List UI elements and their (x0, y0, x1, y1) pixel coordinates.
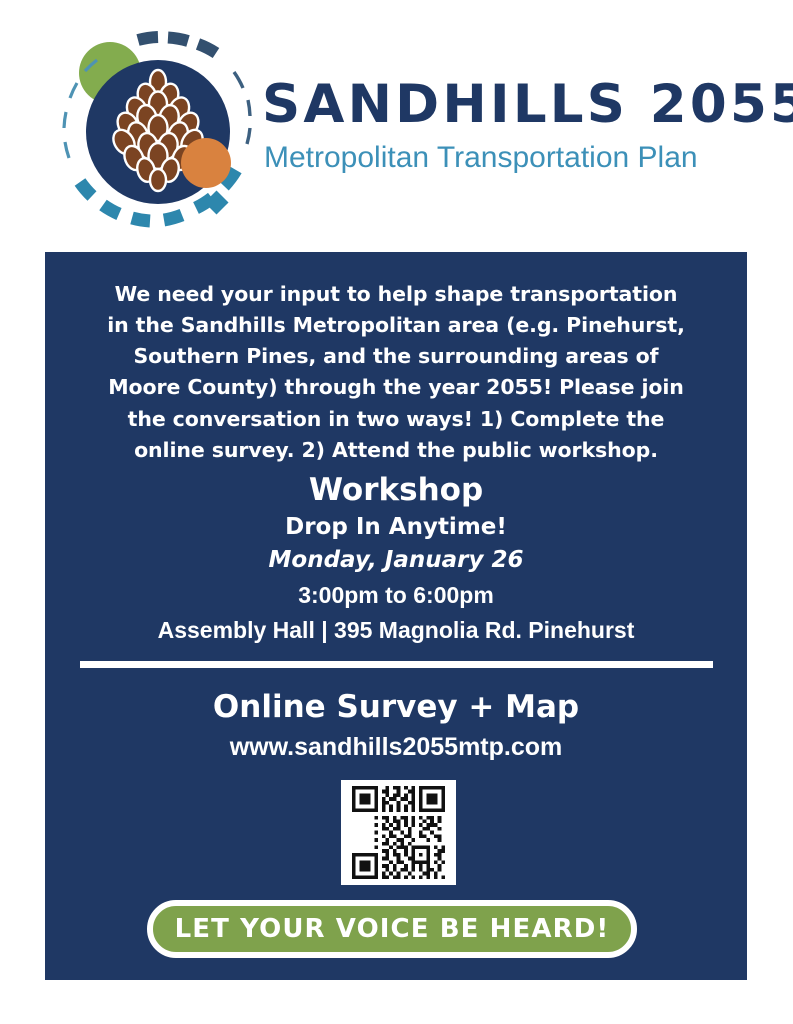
workshop-time: 3:00pm to 6:00pm (75, 581, 717, 611)
survey-section: Online Survey + Map www.sandhills2055mtp… (75, 689, 717, 763)
content-panel: We need your input to help shape transpo… (45, 252, 747, 980)
cta-button-label: LET YOUR VOICE BE HEARD! (175, 916, 610, 942)
workshop-heading: Workshop (75, 472, 717, 509)
page-subtitle: Metropolitan Transportation Plan (264, 143, 742, 173)
header-banner: SANDHILLS 2055 Metropolitan Transportati… (0, 0, 793, 240)
let-your-voice-be-heard-button[interactable]: LET YOUR VOICE BE HEARD! (147, 900, 637, 958)
workshop-dropin-note: Drop In Anytime! (75, 513, 717, 543)
survey-heading: Online Survey + Map (75, 689, 717, 726)
pinecone-logo-icon (58, 30, 258, 230)
page-title: SANDHILLS 2055 (262, 78, 742, 131)
workshop-section: Workshop Drop In Anytime! Monday, Januar… (75, 472, 717, 646)
qr-code-survey-link[interactable] (341, 780, 456, 885)
brand-block: SANDHILLS 2055 Metropolitan Transportati… (262, 78, 742, 173)
survey-url: www.sandhills2055mtp.com (75, 732, 717, 763)
workshop-location: Assembly Hall | 395 Magnolia Rd. Pinehur… (75, 616, 717, 646)
section-divider (80, 661, 713, 668)
flyer-page: SANDHILLS 2055 Metropolitan Transportati… (0, 0, 793, 1024)
workshop-date: Monday, January 26 (75, 546, 717, 576)
intro-paragraph: We need your input to help shape transpo… (103, 279, 689, 466)
